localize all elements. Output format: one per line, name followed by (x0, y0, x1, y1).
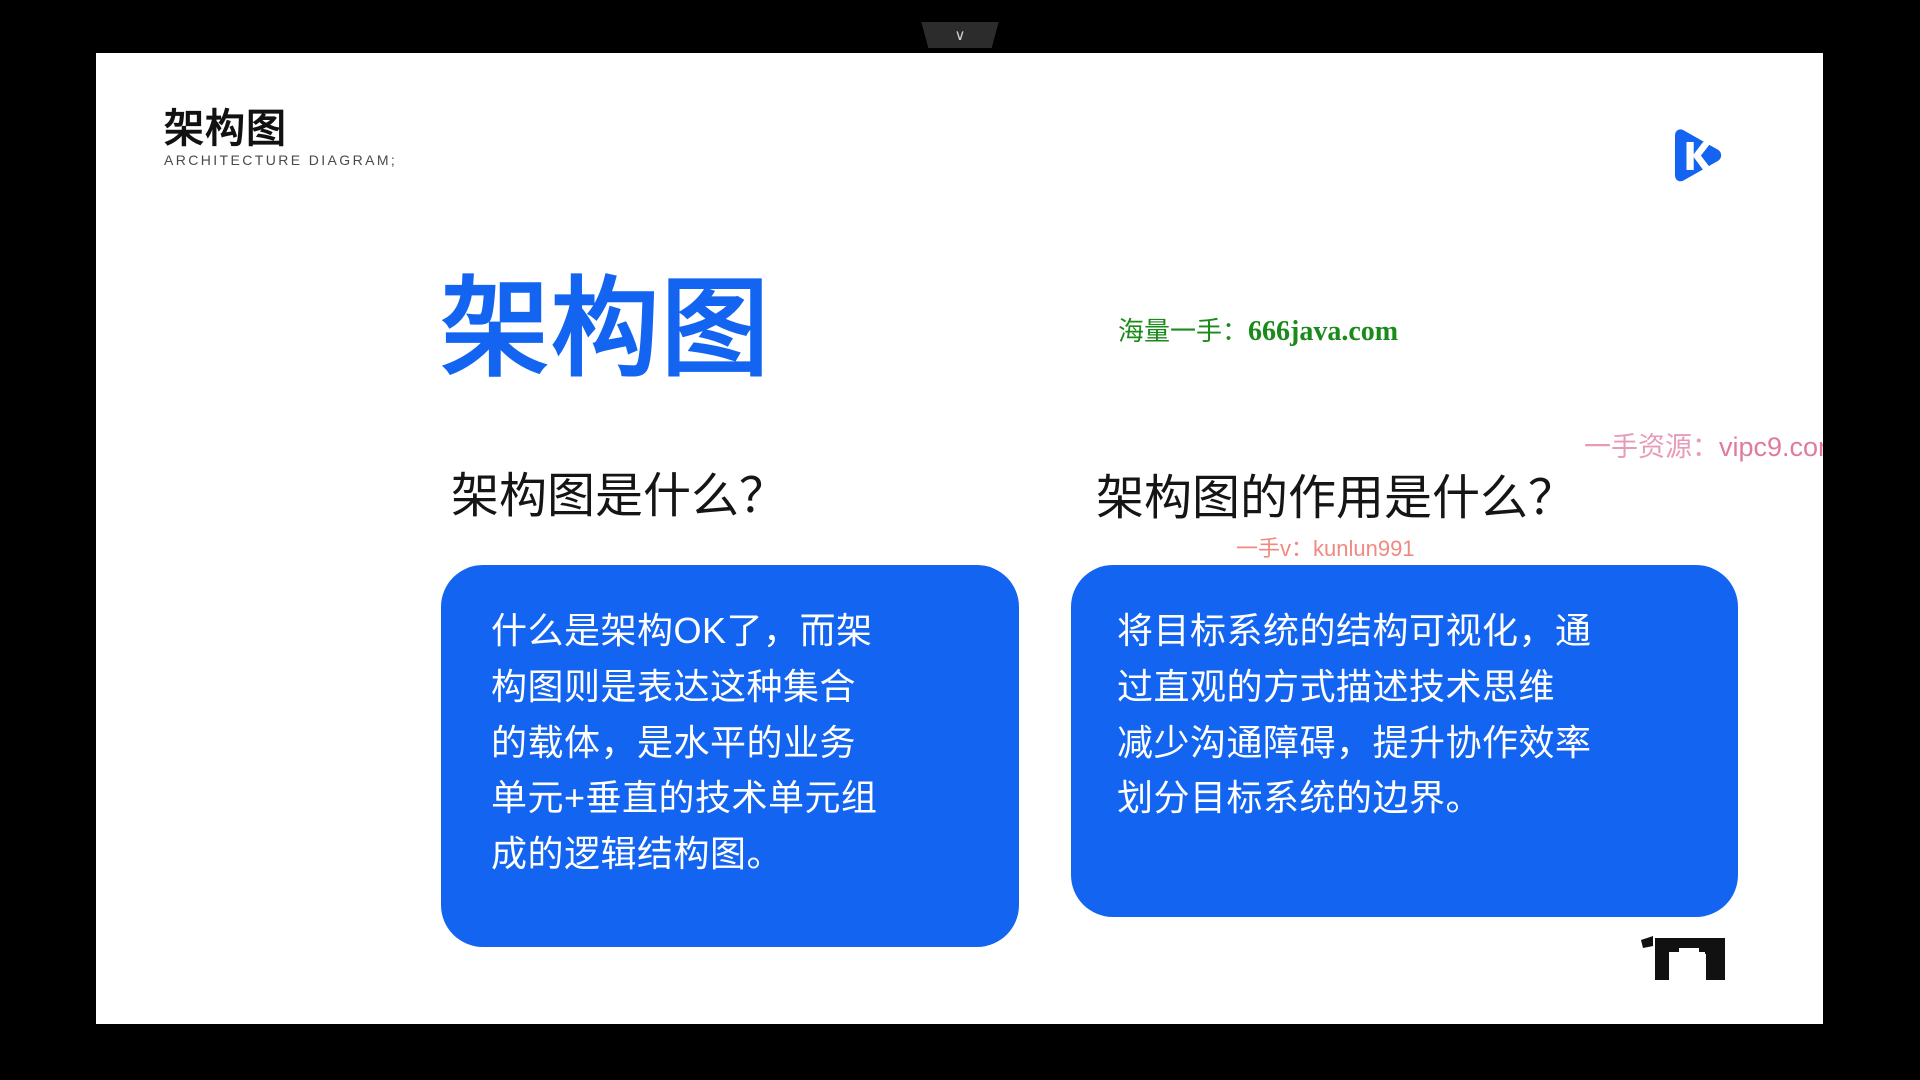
watermark-pink-label: 一手资源： (1584, 432, 1719, 462)
definition-card-right: 将目标系统的结构可视化，通 过直观的方式描述技术思维 减少沟通障碍，提升协作效率… (1071, 565, 1738, 917)
card-line: 划分目标系统的边界。 (1117, 770, 1698, 826)
card-line: 什么是架构OK了，而架 (491, 603, 973, 659)
watermark-pink-url: vipc9.com (1719, 432, 1823, 462)
slide-header-title-en: ARCHITECTURE DIAGRAM; (164, 152, 397, 168)
slide-canvas: 架构图 ARCHITECTURE DIAGRAM; 架构图 架构图是什么？ 架构… (96, 53, 1823, 1024)
definition-card-left: 什么是架构OK了，而架 构图则是表达这种集合 的载体，是水平的业务 单元+垂直的… (441, 565, 1019, 947)
card-line: 构图则是表达这种集合 (491, 659, 973, 715)
watermark-green-label: 海量一手： (1118, 316, 1248, 346)
column-heading-left: 架构图是什么？ (451, 471, 787, 524)
card-line: 的载体，是水平的业务 (491, 715, 973, 771)
131-brand-logo-icon (1639, 934, 1731, 982)
card-line: 减少沟通障碍，提升协作效率 (1117, 715, 1698, 771)
watermark-green: 海量一手：666java.com (1118, 311, 1398, 348)
chevron-down-icon: ∨ (955, 28, 966, 43)
video-player-viewport: ∨ 架构图 ARCHITECTURE DIAGRAM; 架构图 架构图是什么？ … (0, 0, 1920, 1080)
slide-header: 架构图 ARCHITECTURE DIAGRAM; (164, 108, 397, 168)
watermark-green-url: 666java.com (1248, 316, 1398, 347)
card-line: 过直观的方式描述技术思维 (1117, 659, 1698, 715)
card-line: 成的逻辑结构图。 (491, 826, 973, 882)
card-line: 将目标系统的结构可视化，通 (1117, 603, 1698, 659)
collapse-panel-tab[interactable]: ∨ (916, 22, 1004, 48)
column-heading-right: 架构图的作用是什么？ (1096, 473, 1576, 526)
watermark-salmon: 一手v：kunlun991 (1236, 531, 1415, 563)
card-line: 单元+垂直的技术单元组 (491, 770, 973, 826)
slide-header-title-cn: 架构图 (164, 108, 397, 150)
k-play-logo-icon (1665, 125, 1727, 187)
watermark-pink: 一手资源：vipc9.com (1584, 425, 1823, 464)
slide-main-title: 架构图 (441, 275, 771, 383)
